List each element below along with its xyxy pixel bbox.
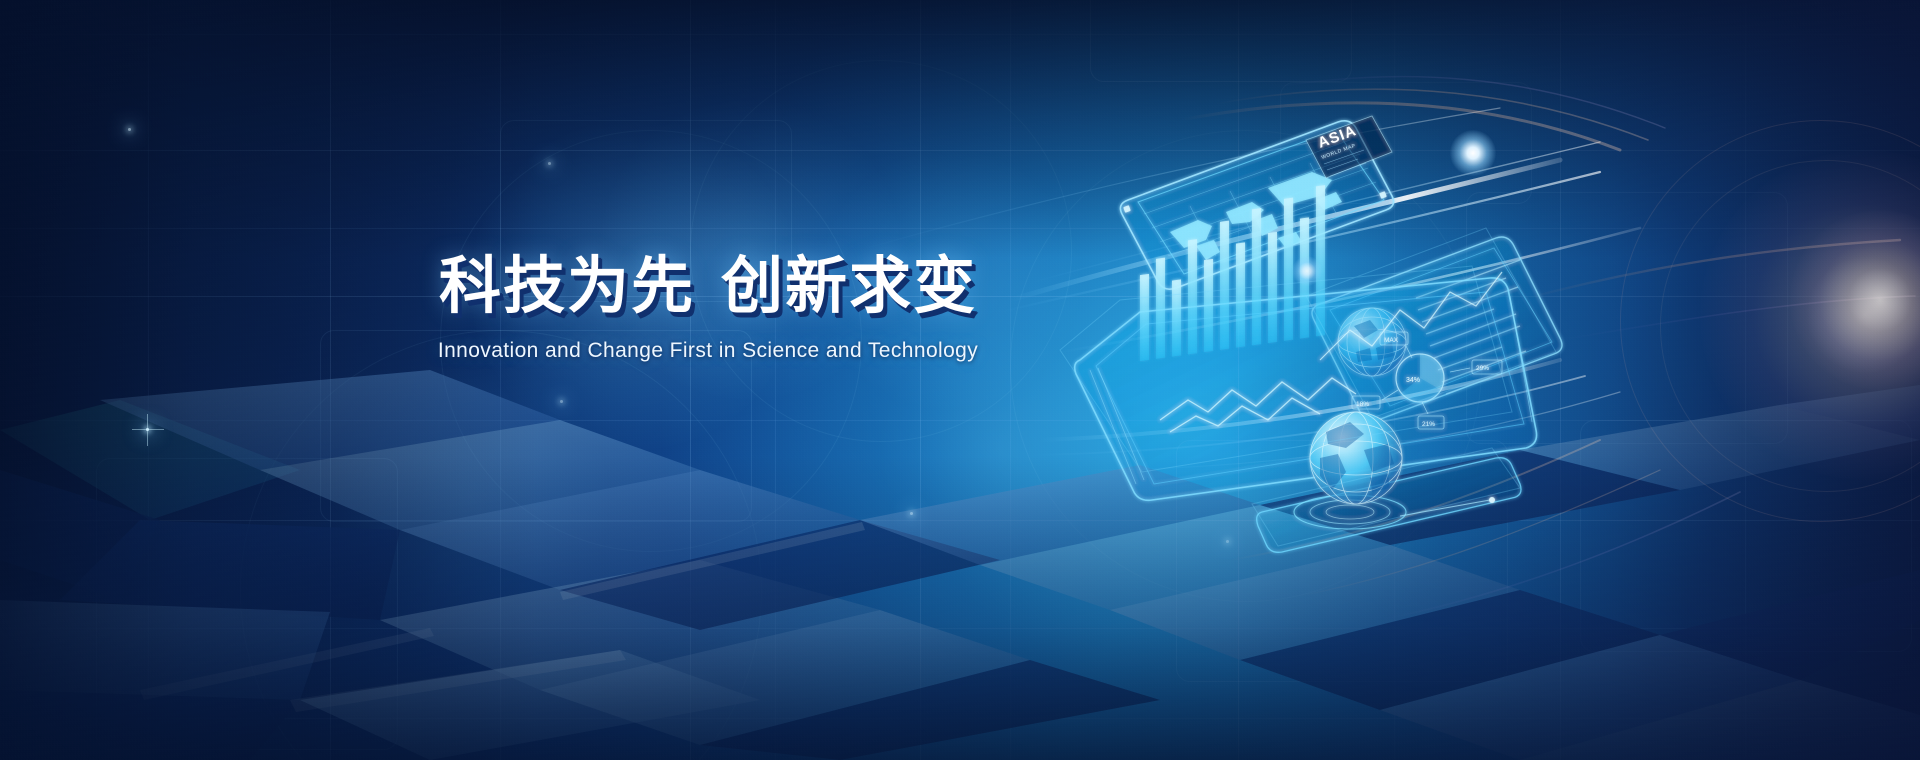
pie-label-2: 18% [1356, 401, 1369, 408]
hud-graphic: ASIA WORLD MAP [1020, 60, 1920, 620]
page-title: 科技为先创新求变 [388, 252, 1028, 321]
sparkle-left [146, 428, 149, 431]
headline-part-2: 创新求变 [721, 252, 977, 321]
headline-part-1: 科技为先 [439, 252, 695, 321]
pie-label-0: 34% [1406, 377, 1420, 384]
lens-glow-secondary [1292, 256, 1322, 286]
pie-label-4: MAX [1384, 337, 1399, 344]
page-subtitle: Innovation and Change First in Science a… [388, 339, 1028, 363]
lens-glow-main [1450, 130, 1496, 176]
pie-label-1: 29% [1476, 365, 1489, 372]
banner-copy: 科技为先创新求变 Innovation and Change First in … [388, 252, 1028, 363]
banner-stage: ASIA WORLD MAP [0, 0, 1920, 760]
